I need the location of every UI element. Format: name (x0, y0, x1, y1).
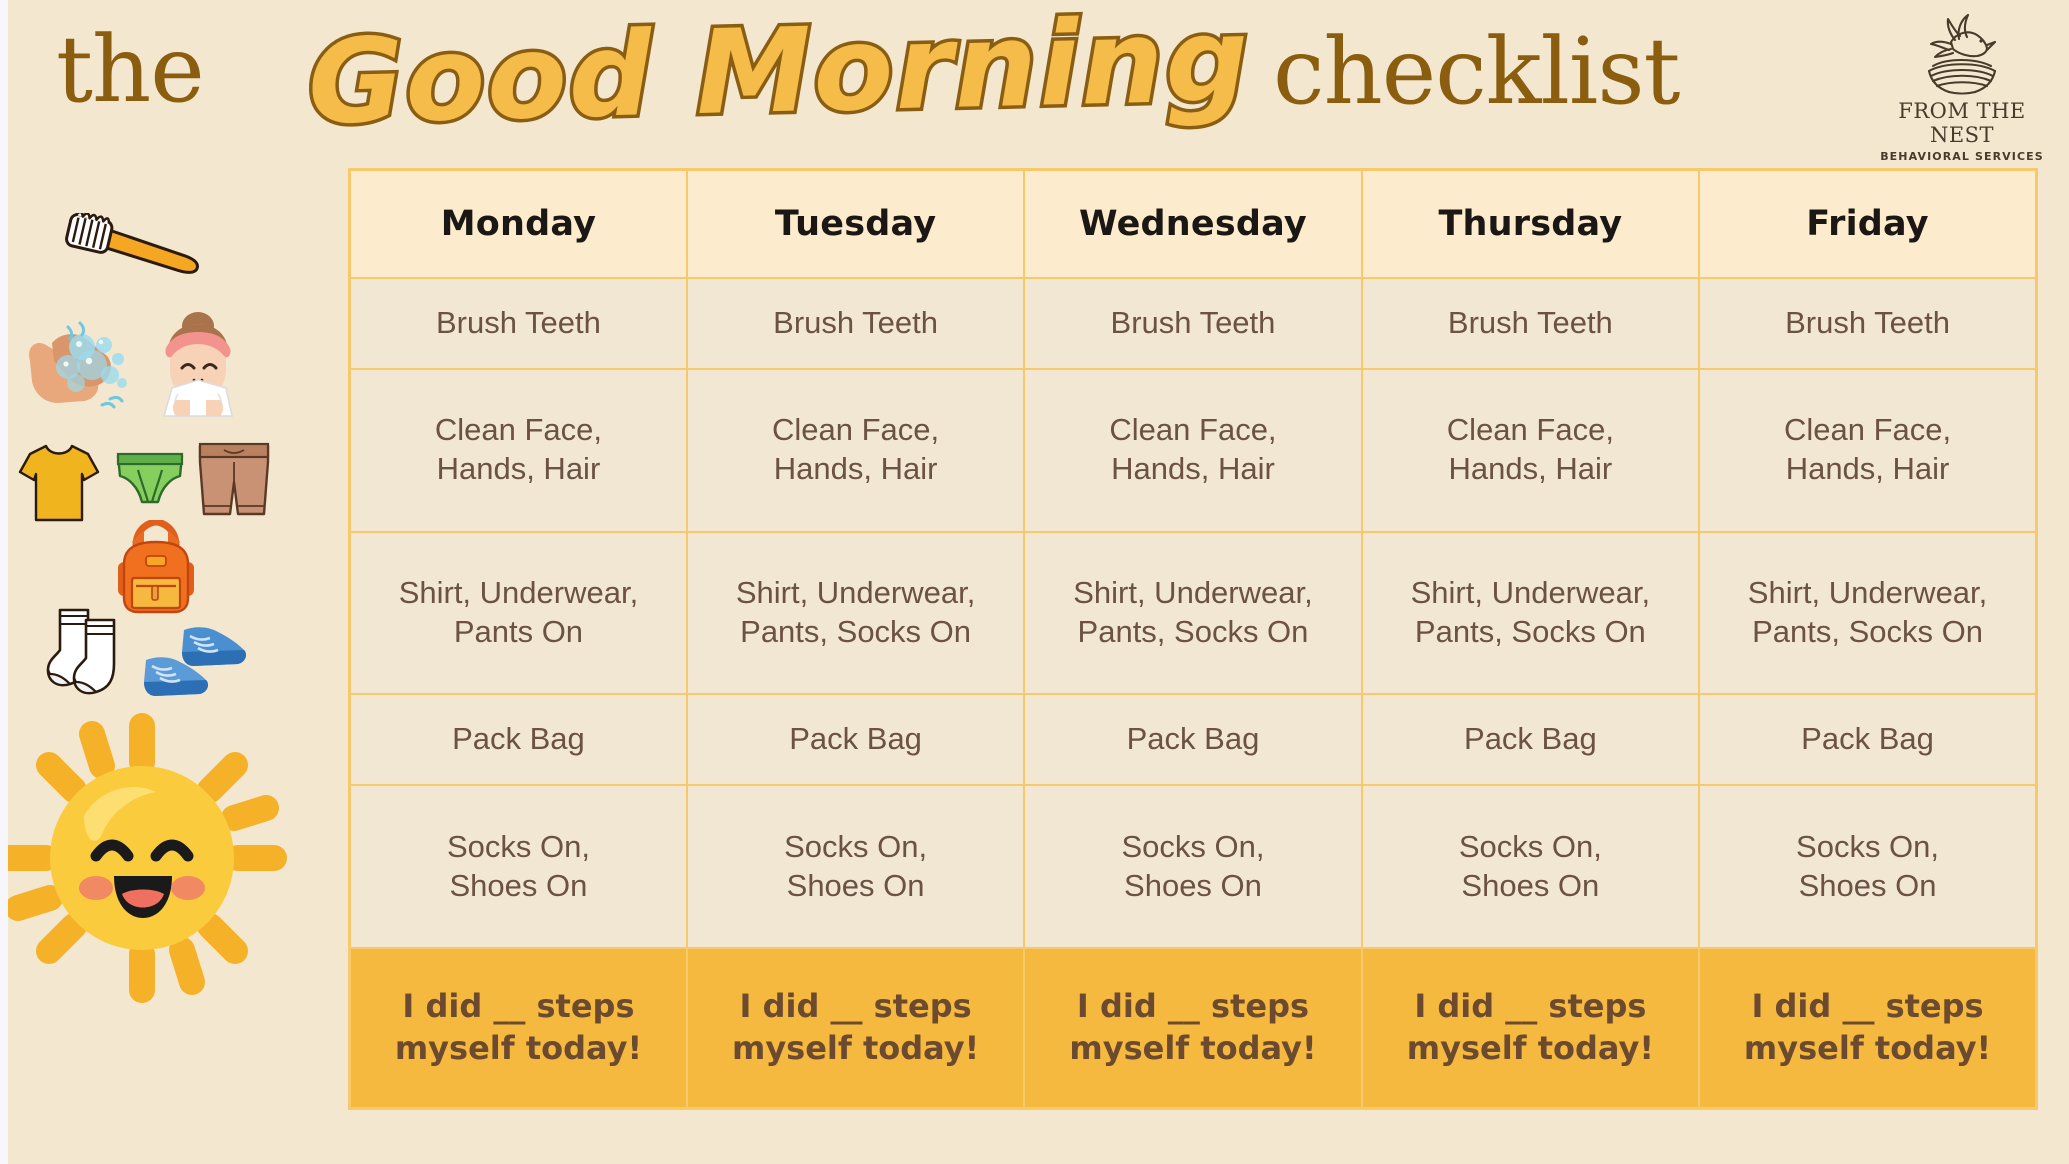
task-line: Clean Face, (359, 411, 678, 450)
task-cell[interactable]: Shirt, Underwear,Pants, Socks On (687, 532, 1024, 695)
task-line: Pants, Socks On (1371, 613, 1690, 652)
table-row: Pack Bag Pack Bag Pack Bag Pack Bag Pack… (350, 694, 2037, 785)
illustration-column (8, 168, 348, 1164)
title-prefix: the (56, 24, 204, 116)
task-line: Shoes On (1371, 867, 1690, 906)
task-line: Pack Bag (359, 720, 678, 759)
checklist-table-wrap: Monday Tuesday Wednesday Thursday Friday… (348, 168, 2038, 1110)
steps-line: I did __ steps (359, 986, 678, 1028)
task-line: Shirt, Underwear, (1708, 574, 2027, 613)
task-cell[interactable]: Brush Teeth (687, 278, 1024, 369)
sun-illustration (0, 708, 292, 1013)
task-cell[interactable]: Clean Face,Hands, Hair (1362, 369, 1699, 532)
task-line: Shoes On (1708, 867, 2027, 906)
table-header-row: Monday Tuesday Wednesday Thursday Friday (350, 170, 2037, 279)
tshirt-illustration (16, 440, 102, 531)
task-cell[interactable]: Brush Teeth (1362, 278, 1699, 369)
task-line: Socks On, (1033, 828, 1352, 867)
task-cell[interactable]: Clean Face,Hands, Hair (1024, 369, 1361, 532)
task-line: Pack Bag (1371, 720, 1690, 759)
task-line: Shirt, Underwear, (1033, 574, 1352, 613)
task-line: Clean Face, (1708, 411, 2027, 450)
steps-cell[interactable]: I did __ stepsmyself today! (687, 948, 1024, 1109)
steps-cell[interactable]: I did __ stepsmyself today! (1024, 948, 1361, 1109)
steps-cell[interactable]: I did __ stepsmyself today! (1362, 948, 1699, 1109)
column-header-friday: Friday (1699, 170, 2036, 279)
task-cell[interactable]: Brush Teeth (1699, 278, 2036, 369)
task-line: Pants On (359, 613, 678, 652)
steps-line: I did __ steps (1033, 986, 1352, 1028)
task-line: Socks On, (1708, 828, 2027, 867)
task-cell[interactable]: Shirt, Underwear,Pants On (350, 532, 687, 695)
steps-line: myself today! (696, 1028, 1015, 1070)
task-cell[interactable]: Socks On,Shoes On (350, 785, 687, 948)
socks-illustration (44, 606, 136, 703)
table-row: Socks On,Shoes On Socks On,Shoes On Sock… (350, 785, 2037, 948)
task-cell[interactable]: Socks On,Shoes On (1362, 785, 1699, 948)
task-line: Brush Teeth (696, 304, 1015, 343)
column-header-tuesday: Tuesday (687, 170, 1024, 279)
column-header-wednesday: Wednesday (1024, 170, 1361, 279)
steps-cell[interactable]: I did __ stepsmyself today! (1699, 948, 2036, 1109)
brand-logo: FROM THE NEST BEHAVIORAL SERVICES (1877, 8, 2047, 163)
steps-line: myself today! (1371, 1028, 1690, 1070)
task-line: Brush Teeth (359, 304, 678, 343)
task-cell[interactable]: Pack Bag (1699, 694, 2036, 785)
task-line: Shoes On (1033, 867, 1352, 906)
steps-line: myself today! (1033, 1028, 1352, 1070)
task-cell[interactable]: Socks On,Shoes On (1699, 785, 2036, 948)
task-line: Shoes On (696, 867, 1015, 906)
task-line: Pants, Socks On (1708, 613, 2027, 652)
task-cell[interactable]: Clean Face,Hands, Hair (350, 369, 687, 532)
task-line: Hands, Hair (1033, 450, 1352, 489)
task-line: Clean Face, (1371, 411, 1690, 450)
column-header-thursday: Thursday (1362, 170, 1699, 279)
task-cell[interactable]: Brush Teeth (350, 278, 687, 369)
task-cell[interactable]: Clean Face,Hands, Hair (687, 369, 1024, 532)
steps-cell[interactable]: I did __ stepsmyself today! (350, 948, 687, 1109)
shoes-illustration (138, 618, 250, 709)
task-cell[interactable]: Socks On,Shoes On (687, 785, 1024, 948)
task-line: Hands, Hair (696, 450, 1015, 489)
task-line: Pants, Socks On (1033, 613, 1352, 652)
task-cell[interactable]: Pack Bag (350, 694, 687, 785)
title-script: Good Morning (306, 0, 1251, 153)
task-cell[interactable]: Shirt, Underwear,Pants, Socks On (1024, 532, 1361, 695)
task-cell[interactable]: Pack Bag (687, 694, 1024, 785)
task-cell[interactable]: Shirt, Underwear,Pants, Socks On (1362, 532, 1699, 695)
task-line: Socks On, (359, 828, 678, 867)
shorts-illustration (194, 440, 274, 531)
table-row: Clean Face,Hands, Hair Clean Face,Hands,… (350, 369, 2037, 532)
task-line: Pack Bag (696, 720, 1015, 759)
task-line: Hands, Hair (1371, 450, 1690, 489)
task-line: Clean Face, (696, 411, 1015, 450)
steps-line: I did __ steps (696, 986, 1015, 1028)
task-line: Brush Teeth (1033, 304, 1352, 343)
task-line: Shirt, Underwear, (359, 574, 678, 613)
table-row: Brush Teeth Brush Teeth Brush Teeth Brus… (350, 278, 2037, 369)
task-line: Pack Bag (1708, 720, 2027, 759)
task-cell[interactable]: Clean Face,Hands, Hair (1699, 369, 2036, 532)
logo-line-1: FROM THE (1877, 100, 2047, 124)
logo-tagline: BEHAVIORAL SERVICES (1877, 150, 2047, 163)
task-line: Brush Teeth (1708, 304, 2027, 343)
task-line: Hands, Hair (359, 450, 678, 489)
task-line: Shoes On (359, 867, 678, 906)
task-cell[interactable]: Brush Teeth (1024, 278, 1361, 369)
toothbrush-illustration (50, 213, 210, 288)
task-cell[interactable]: Socks On,Shoes On (1024, 785, 1361, 948)
task-cell[interactable]: Shirt, Underwear,Pants, Socks On (1699, 532, 2036, 695)
task-line: Socks On, (1371, 828, 1690, 867)
steps-line: myself today! (1708, 1028, 2027, 1070)
logo-line-2: NEST (1877, 124, 2047, 148)
task-cell[interactable]: Pack Bag (1362, 694, 1699, 785)
good-morning-checklist-poster: the Good Morning checklist (0, 0, 2069, 1164)
table-footer-row: I did __ stepsmyself today! I did __ ste… (350, 948, 2037, 1109)
task-line: Shirt, Underwear, (1371, 574, 1690, 613)
checklist-table: Monday Tuesday Wednesday Thursday Friday… (348, 168, 2038, 1110)
task-cell[interactable]: Pack Bag (1024, 694, 1361, 785)
table-row: Shirt, Underwear,Pants On Shirt, Underwe… (350, 532, 2037, 695)
washing-hands-illustration (22, 303, 154, 418)
task-line: Pants, Socks On (696, 613, 1015, 652)
bird-in-nest-icon (1877, 8, 2047, 100)
task-line: Pack Bag (1033, 720, 1352, 759)
task-line: Socks On, (696, 828, 1015, 867)
task-line: Shirt, Underwear, (696, 574, 1015, 613)
task-line: Brush Teeth (1371, 304, 1690, 343)
title-suffix: checklist (1273, 26, 1680, 118)
washing-face-illustration (148, 308, 248, 423)
poster-header: the Good Morning checklist (8, 0, 2069, 168)
task-line: Clean Face, (1033, 411, 1352, 450)
steps-line: I did __ steps (1708, 986, 2027, 1028)
steps-line: myself today! (359, 1028, 678, 1070)
steps-line: I did __ steps (1371, 986, 1690, 1028)
task-line: Hands, Hair (1708, 450, 2027, 489)
underwear-illustration (114, 450, 186, 521)
column-header-monday: Monday (350, 170, 687, 279)
